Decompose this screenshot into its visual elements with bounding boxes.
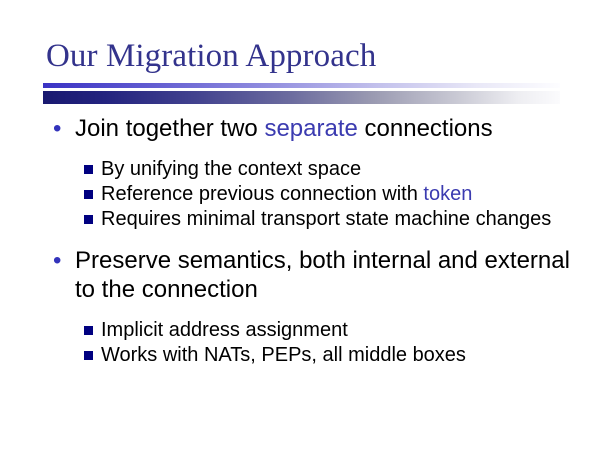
bullet-text: By unifying the context space bbox=[101, 158, 361, 180]
bullet-text: Preserve semantics, both internal and ex… bbox=[75, 247, 570, 303]
bullet-dot-icon: • bbox=[53, 114, 67, 143]
bullet-square-icon bbox=[84, 215, 93, 224]
bullet-dot-icon: • bbox=[53, 246, 67, 275]
bullet-item-level1: •Preserve semantics, both internal and e… bbox=[0, 246, 600, 304]
text-run: Join together two bbox=[75, 115, 264, 142]
bullet-text: Works with NATs, PEPs, all middle boxes bbox=[101, 344, 466, 366]
bullet-square-icon bbox=[84, 351, 93, 360]
bullet-square-icon bbox=[84, 165, 93, 174]
text-run: Implicit address assignment bbox=[101, 319, 348, 341]
bullet-square-icon bbox=[84, 190, 93, 199]
slide-body-content: •Join together two separate connectionsB… bbox=[0, 114, 600, 368]
title-divider-gradient-bar bbox=[43, 91, 560, 104]
highlighted-term: separate bbox=[264, 115, 357, 142]
text-run: connections bbox=[358, 115, 493, 142]
text-run: Requires minimal transport state machine… bbox=[101, 208, 551, 230]
bullet-item-level2: Works with NATs, PEPs, all middle boxes bbox=[0, 343, 600, 368]
bullet-square-icon bbox=[84, 326, 93, 335]
bullet-text: Join together two separate connections bbox=[75, 115, 493, 142]
text-run: Preserve semantics, both internal and ex… bbox=[75, 247, 570, 303]
bullet-text: Reference previous connection with token bbox=[101, 183, 472, 205]
bullet-item-level1: •Join together two separate connections bbox=[0, 114, 600, 143]
bullet-item-level2: Reference previous connection with token bbox=[0, 182, 600, 207]
bullet-item-level2: Implicit address assignment bbox=[0, 318, 600, 343]
page-title: Our Migration Approach bbox=[46, 37, 566, 75]
bullet-text: Requires minimal transport state machine… bbox=[101, 208, 551, 230]
bullet-item-level2: Requires minimal transport state machine… bbox=[0, 207, 600, 232]
bullet-item-level2: By unifying the context space bbox=[0, 157, 600, 182]
title-divider-thin bbox=[43, 83, 560, 88]
text-run: By unifying the context space bbox=[101, 158, 361, 180]
bullet-text: Implicit address assignment bbox=[101, 319, 348, 341]
highlighted-term: token bbox=[423, 183, 472, 205]
text-run: Reference previous connection with bbox=[101, 183, 423, 205]
text-run: Works with NATs, PEPs, all middle boxes bbox=[101, 344, 466, 366]
presentation-slide: Our Migration Approach •Join together tw… bbox=[0, 0, 600, 450]
